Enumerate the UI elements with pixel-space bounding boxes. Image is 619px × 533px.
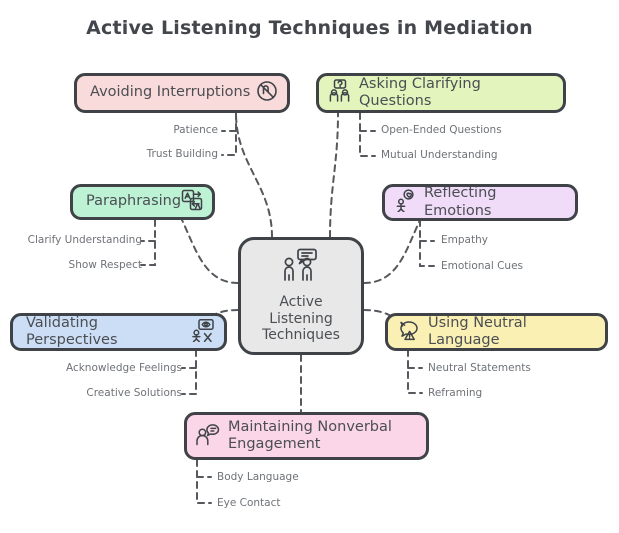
branch-node-maintaining-nonverbal-engagement[interactable]: Maintaining Nonverbal Engagement	[184, 412, 429, 460]
speech-warning-icon	[397, 319, 421, 346]
link-center-asking-clarifying-questions	[330, 113, 338, 237]
link-center-reflecting-emotions	[364, 220, 420, 283]
branch-node-paraphrasing[interactable]: Paraphrasing	[70, 184, 215, 220]
no-interruption-icon	[256, 80, 278, 106]
sub-label-reframing: Reframing	[428, 387, 613, 399]
branch-label-avoiding-interruptions: Avoiding Interruptions	[86, 84, 250, 101]
center-node-label: Active Listening Techniques	[262, 294, 340, 344]
center-node-active-listening-techniques[interactable]: Active Listening Techniques	[238, 237, 364, 355]
sub-label-body-language: Body Language	[217, 471, 407, 483]
person-speech-icon	[196, 422, 221, 451]
sub-label-creative-solutions: Creative Solutions	[10, 387, 182, 399]
people-question-icon	[328, 79, 352, 107]
branch-label-using-neutral-language: Using Neutral Language	[421, 315, 596, 349]
sub-label-trust-building: Trust Building	[20, 148, 218, 160]
people-eye-icon	[191, 319, 215, 346]
sub-link-neutral-2	[408, 350, 422, 393]
sub-link-validating-2	[182, 350, 196, 394]
sub-label-patience: Patience	[20, 124, 218, 136]
branch-label-validating-perspectives: Validating Perspectives	[22, 315, 191, 349]
sub-label-empathy: Empathy	[441, 234, 611, 246]
translate-icon	[181, 189, 203, 215]
sub-link-paraphrasing-2	[141, 220, 155, 265]
branch-node-reflecting-emotions[interactable]: Reflecting Emotions	[382, 184, 578, 221]
branch-node-avoiding-interruptions[interactable]: Avoiding Interruptions	[74, 73, 290, 113]
page-title: Active Listening Techniques in Mediation	[0, 17, 619, 39]
branch-node-asking-clarifying-questions[interactable]: Asking Clarifying Questions	[316, 73, 566, 113]
sub-link-asking-2	[360, 113, 375, 156]
two-people-speech-bubble-icon	[276, 248, 326, 289]
sub-label-emotional-cues: Emotional Cues	[441, 260, 611, 272]
branch-node-validating-perspectives[interactable]: Validating Perspectives	[10, 313, 227, 351]
sub-label-show-respect: Show Respect	[10, 259, 142, 271]
sub-label-mutual-understanding: Mutual Understanding	[381, 149, 611, 161]
sub-label-eye-contact: Eye Contact	[217, 497, 407, 509]
sub-link-reflecting-2	[420, 220, 434, 266]
link-center-avoiding-interruptions	[236, 113, 272, 237]
branch-label-paraphrasing: Paraphrasing	[82, 193, 181, 210]
sub-link-avoiding-2	[222, 113, 236, 155]
branch-label-asking-clarifying-questions: Asking Clarifying Questions	[352, 76, 554, 110]
link-center-paraphrasing	[182, 220, 238, 283]
sub-label-open-ended-questions: Open-Ended Questions	[381, 124, 611, 136]
person-heart-icon	[394, 189, 417, 216]
sub-label-clarify-understanding: Clarify Understanding	[10, 234, 142, 246]
branch-node-using-neutral-language[interactable]: Using Neutral Language	[385, 313, 608, 351]
sub-link-nonverbal-2	[197, 460, 211, 503]
sub-label-acknowledge-feelings: Acknowledge Feelings	[10, 362, 182, 374]
branch-label-maintaining-nonverbal-engagement: Maintaining Nonverbal Engagement	[221, 419, 392, 453]
mindmap-canvas: Active Listening Techniques in Mediation	[0, 0, 619, 533]
branch-label-reflecting-emotions: Reflecting Emotions	[417, 185, 566, 219]
sub-label-neutral-statements: Neutral Statements	[428, 362, 613, 374]
